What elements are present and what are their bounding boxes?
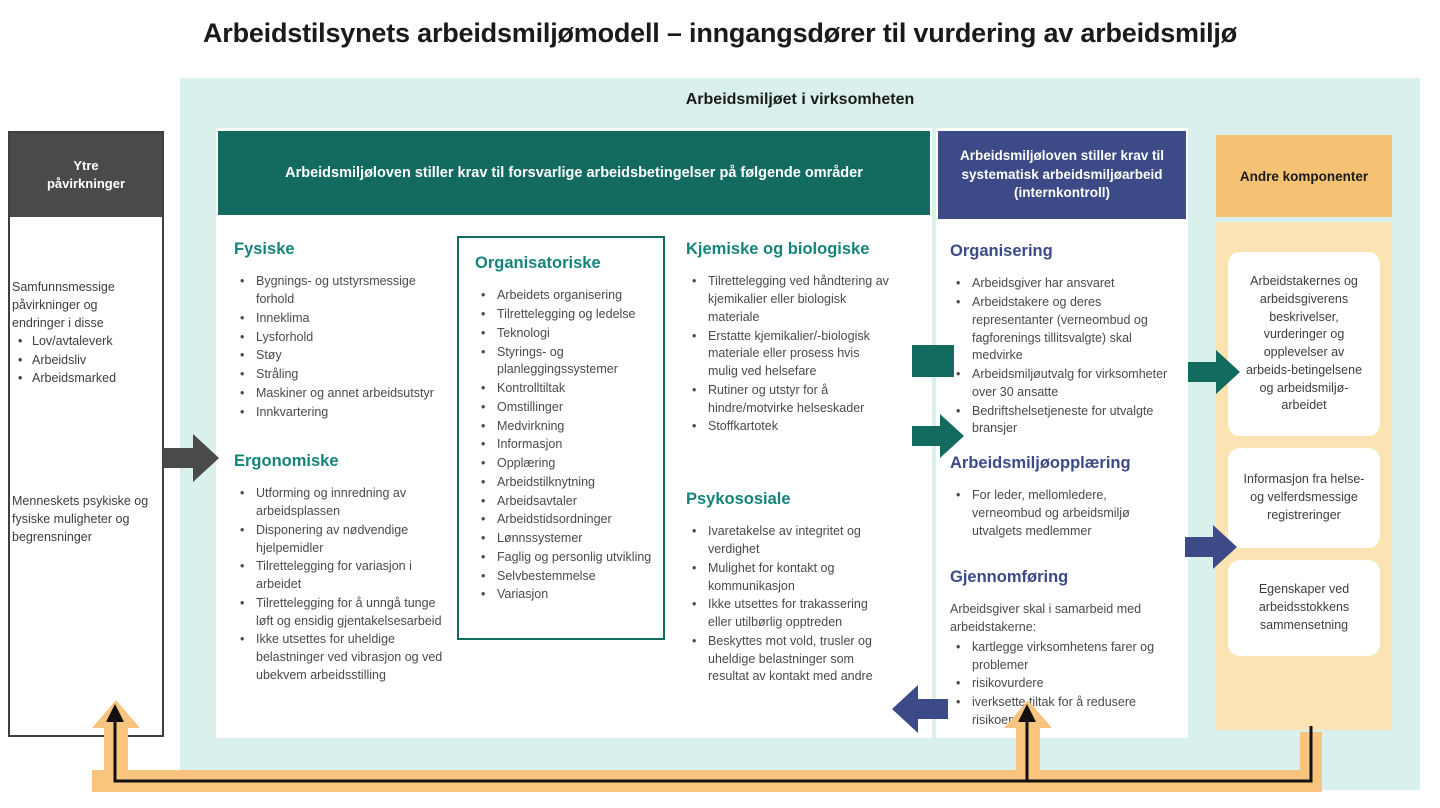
column-kjemiske-biologiske: Kjemiske og biologiske Tilrettelegging v… — [686, 238, 892, 437]
list-item: Stråling — [234, 366, 442, 384]
column-organisatoriske-title: Organisatoriske — [475, 252, 655, 275]
other-card-3: Egenskaper ved arbeidsstokkens sammenset… — [1228, 560, 1380, 656]
list-item: Rutiner og utstyr for å hindre/motvirke … — [686, 382, 892, 418]
column-opplaering-title: Arbeidsmiljøopplæring — [950, 452, 1176, 475]
external-header-line1: Ytre — [73, 158, 98, 173]
list-item: Faglig og personlig utvikling — [475, 549, 655, 567]
list-item: kartlegge virksomhetens farer og problem… — [950, 639, 1176, 675]
column-organisatoriske-list: Arbeidets organisering Tilrettelegging o… — [475, 287, 655, 604]
column-opplaering-list: For leder, mellomledere, verneombud og a… — [950, 487, 1176, 540]
list-item: Arbeidsmarked — [32, 369, 152, 387]
list-item: Styrings- og planleggingssystemer — [475, 344, 655, 380]
other-card-2: Informasjon fra helse- og velferdsmessig… — [1228, 448, 1380, 548]
column-organisatoriske: Organisatoriske Arbeidets organisering T… — [475, 252, 655, 605]
column-kjemiske-title: Kjemiske og biologiske — [686, 238, 892, 261]
external-block-societal-lead: Samfunnsmessige påvirkninger og endringe… — [12, 278, 152, 332]
external-header-line2: påvirkninger — [47, 176, 125, 191]
list-item: Arbeidstidsordninger — [475, 511, 655, 529]
external-block-human: Menneskets psykiske og fysiske mulighete… — [12, 492, 152, 546]
list-item: Arbeidsavtaler — [475, 493, 655, 511]
outer-panel-heading: Arbeidsmiljøet i virksomheten — [180, 91, 1420, 109]
column-gjennomforing-lead: Arbeidsgiver skal i samarbeid med arbeid… — [950, 601, 1176, 637]
list-item: Erstatte kjemikalier/-biologisk material… — [686, 328, 892, 381]
column-arbeidsmiljoopplaering: Arbeidsmiljøopplæring For leder, melloml… — [950, 452, 1176, 542]
list-item: Arbeidstakere og deres representanter (v… — [950, 294, 1176, 365]
list-item: Bygnings- og utstyrsmessige forhold — [234, 273, 442, 309]
column-ergonomiske-title: Ergonomiske — [234, 450, 446, 473]
arrow-teal-connector-upper-icon — [912, 345, 954, 377]
other-components-header: Andre komponenter — [1216, 135, 1392, 217]
column-ergonomiske: Ergonomiske Utforming og innredning av a… — [234, 450, 446, 686]
column-fysiske-title: Fysiske — [234, 238, 442, 261]
list-item: Inneklima — [234, 310, 442, 328]
list-item: Opplæring — [475, 455, 655, 473]
list-item: Innkvartering — [234, 404, 442, 422]
other-card-1-text: Arbeidstakernes og arbeidsgiverens beskr… — [1240, 273, 1368, 415]
other-card-2-text: Informasjon fra helse- og velferdsmessig… — [1240, 471, 1368, 524]
list-item: Tilrettelegging ved håndtering av kjemik… — [686, 273, 892, 326]
list-item: Stoffkartotek — [686, 418, 892, 436]
list-item: Ikke utsettes for uheldige belastninger … — [234, 631, 446, 684]
other-components-header-text: Andre komponenter — [1240, 169, 1368, 184]
column-psykososiale: Psykososiale Ivaretakelse av integritet … — [686, 488, 892, 687]
teal-section-header: Arbeidsmiljøloven stiller krav til forsv… — [218, 131, 930, 215]
other-card-1: Arbeidstakernes og arbeidsgiverens beskr… — [1228, 252, 1380, 436]
list-item: Tilrettelegging for å unngå tunge løft o… — [234, 595, 446, 631]
list-item: Maskiner og annet arbeidsutstyr — [234, 385, 442, 403]
column-psykososiale-title: Psykososiale — [686, 488, 892, 511]
external-block-societal: Samfunnsmessige påvirkninger og endringe… — [12, 278, 152, 387]
external-influences-header: Ytre påvirkninger — [10, 133, 162, 217]
arrow-navy-to-other-icon — [1185, 523, 1237, 571]
feedback-loop-arrows — [0, 690, 1440, 808]
column-psykososiale-list: Ivaretakelse av integritet og verdighet … — [686, 523, 892, 686]
list-item: Mulighet for kontakt og kommunikasjon — [686, 560, 892, 596]
list-item: Arbeidstilknytning — [475, 474, 655, 492]
arrow-external-to-workplace-icon — [163, 432, 219, 484]
list-item: Ikke utsettes for trakassering eller uti… — [686, 596, 892, 632]
list-item: Disponering av nødvendige hjelpemidler — [234, 522, 446, 558]
diagram-root: Arbeidstilsynets arbeidsmiljømodell – in… — [0, 0, 1440, 808]
list-item: Arbeidsgiver har ansvaret — [950, 275, 1176, 293]
list-item: Selvbestemmelse — [475, 568, 655, 586]
column-ergonomiske-list: Utforming og innredning av arbeidsplasse… — [234, 485, 446, 684]
external-block-human-lead: Menneskets psykiske og fysiske mulighete… — [12, 492, 152, 546]
list-item: Lov/avtaleverk — [32, 332, 152, 350]
list-item: Beskyttes mot vold, trusler og uheldige … — [686, 633, 892, 686]
column-fysiske: Fysiske Bygnings- og utstyrsmessige forh… — [234, 238, 442, 422]
arrow-teal-to-navy-icon — [912, 412, 964, 460]
other-card-3-text: Egenskaper ved arbeidsstokkens sammenset… — [1240, 581, 1368, 634]
page-title: Arbeidstilsynets arbeidsmiljømodell – in… — [0, 18, 1440, 49]
list-item: Omstillinger — [475, 399, 655, 417]
list-item: Støy — [234, 347, 442, 365]
navy-section-header: Arbeidsmiljøloven stiller krav til syste… — [938, 131, 1186, 219]
external-block-societal-list: Lov/avtaleverk Arbeidsliv Arbeidsmarked — [12, 332, 152, 386]
arrow-navy-to-other-teal-icon — [1188, 348, 1240, 396]
list-item: Variasjon — [475, 586, 655, 604]
list-item: For leder, mellomledere, verneombud og a… — [950, 487, 1176, 540]
column-organisering-title: Organisering — [950, 240, 1176, 263]
teal-section-header-text: Arbeidsmiljøloven stiller krav til forsv… — [285, 163, 863, 183]
list-item: Arbeidsmiljøutvalg for virksomheter over… — [950, 366, 1176, 402]
list-item: Tilrettelegging og ledelse — [475, 306, 655, 324]
list-item: Ivaretakelse av integritet og verdighet — [686, 523, 892, 559]
column-fysiske-list: Bygnings- og utstyrsmessige forhold Inne… — [234, 273, 442, 421]
list-item: Teknologi — [475, 325, 655, 343]
column-gjennomforing-title: Gjennomføring — [950, 566, 1176, 589]
column-organisering-list: Arbeidsgiver har ansvaret Arbeidstakere … — [950, 275, 1176, 438]
list-item: Arbeidsliv — [32, 351, 152, 369]
column-kjemiske-list: Tilrettelegging ved håndtering av kjemik… — [686, 273, 892, 436]
list-item: Kontrolltiltak — [475, 380, 655, 398]
list-item: Medvirkning — [475, 418, 655, 436]
list-item: Lønnssystemer — [475, 530, 655, 548]
list-item: Tilrettelegging for variasjon i arbeidet — [234, 558, 446, 594]
navy-section-header-text: Arbeidsmiljøloven stiller krav til syste… — [954, 147, 1170, 204]
list-item: Arbeidets organisering — [475, 287, 655, 305]
column-organisering: Organisering Arbeidsgiver har ansvaret A… — [950, 240, 1176, 439]
list-item: Bedriftshelsetjeneste for utvalgte brans… — [950, 403, 1176, 439]
list-item: Lysforhold — [234, 329, 442, 347]
list-item: Utforming og innredning av arbeidsplasse… — [234, 485, 446, 521]
list-item: Informasjon — [475, 436, 655, 454]
